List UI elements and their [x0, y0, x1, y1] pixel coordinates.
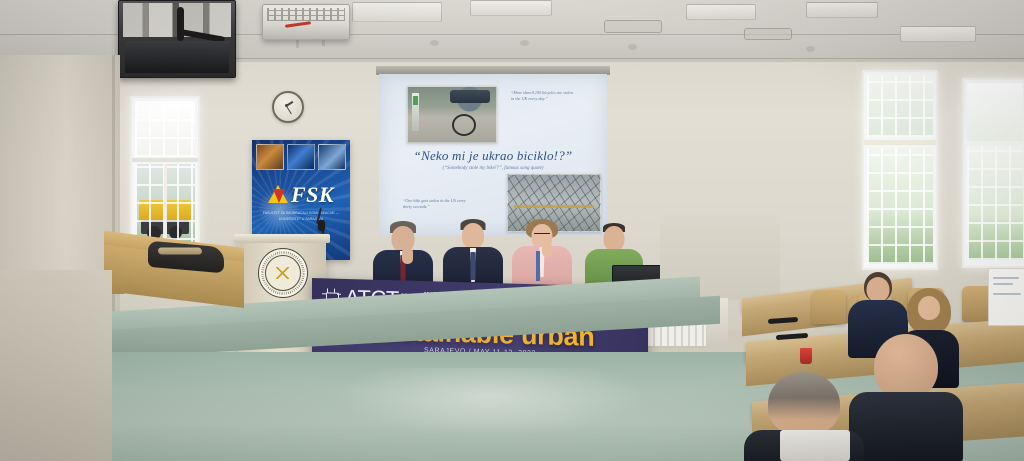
podium-top-surface	[234, 234, 330, 243]
slide-photo-rail	[514, 205, 594, 208]
fsk-photo-1	[256, 144, 284, 170]
audience-3-head	[874, 334, 938, 400]
ceiling-fixture-dot	[628, 44, 637, 50]
audience-2-face	[918, 296, 940, 320]
audience-4-head	[768, 372, 840, 436]
fsk-logo-mark-icon	[268, 185, 288, 205]
ceiling-camera-housing	[118, 0, 236, 78]
wall-poster	[988, 268, 1024, 326]
foreground-partition-wall	[0, 270, 112, 461]
camera-cable	[177, 7, 184, 41]
conference-photo-scene: “More than 8,100 bicycles are stolen in …	[0, 0, 1024, 461]
panelist-2-tie	[471, 252, 476, 280]
window-lower-bars	[967, 146, 1023, 260]
fsk-wordmark: FSK	[291, 184, 334, 206]
ceiling-light-panel	[352, 2, 442, 22]
fsk-logo-row: FSK	[252, 184, 350, 206]
ceiling-vent	[604, 20, 662, 33]
audience-seat	[812, 290, 846, 324]
poster-text-line	[993, 283, 1013, 285]
ceiling-light-panel	[686, 4, 756, 20]
panelist-3-lanyard	[536, 251, 540, 281]
window-transom	[864, 140, 936, 145]
panelist-1-hand	[402, 247, 413, 264]
panelist-2-head	[462, 223, 484, 249]
fsk-subtitle: FAKULTET ZA SAOBRAĆAJ I KOMUNIKACIJE — U…	[262, 210, 340, 223]
paper-on-desk	[780, 430, 850, 461]
wall-clock	[272, 91, 304, 123]
audience-3-body	[849, 392, 963, 461]
seal-emblem-icon	[276, 267, 289, 279]
window-upper-glass	[967, 83, 1023, 141]
audience-3	[848, 334, 964, 461]
red-paper-cup	[800, 348, 812, 364]
clock-center-pin	[285, 104, 288, 107]
ceiling-fixture-dot	[430, 40, 439, 46]
projector-red-cable	[285, 21, 311, 28]
ceiling-fixture-dot	[806, 46, 815, 52]
window-upper-bars	[135, 101, 195, 157]
slide-photo-car	[450, 90, 490, 103]
ceiling-light-panel	[470, 0, 552, 16]
slide-photo-bike-loop	[452, 114, 476, 136]
fsk-photo-strip	[256, 144, 346, 170]
floor-reflection	[330, 368, 650, 438]
audience-1-face	[867, 277, 890, 302]
projection-screen: “More than 8,100 bicycles are stolen in …	[379, 74, 607, 235]
ceiling-vent	[744, 28, 792, 40]
window-transom	[132, 158, 198, 162]
university-seal	[258, 248, 308, 298]
microphone-head	[318, 220, 325, 231]
ceiling-fixture-dot	[520, 40, 529, 46]
slide-photo-post	[412, 93, 419, 131]
tall-window-right	[862, 70, 938, 270]
poster-text-line	[993, 293, 1021, 295]
tall-window-far-right	[962, 78, 1024, 268]
slide-sub-quote: (“Somebody stole my bike!?”, famous song…	[379, 166, 607, 171]
fsk-photo-2	[287, 144, 315, 170]
poster-text-line	[993, 277, 1019, 279]
ceiling-projector	[262, 4, 350, 40]
window-lower-bars	[867, 148, 933, 264]
camera-glass	[125, 41, 229, 73]
window-upper-bars	[867, 75, 933, 137]
ceiling-light-panel	[900, 26, 976, 42]
slide-note-top-right: “More than 8,100 bicycles are stolen in …	[511, 90, 577, 103]
projector-vent-grid	[267, 8, 345, 21]
panelist-3-glasses-icon	[534, 233, 550, 234]
bag-strap	[158, 247, 202, 254]
ceiling-light-panel	[806, 2, 878, 18]
panelist-4-head	[604, 226, 625, 251]
panelist-3-hand	[542, 241, 552, 257]
slide-photo-bike-rack	[407, 86, 497, 143]
fsk-photo-3	[318, 144, 346, 170]
slide-main-quote: “Neko mi je ukrao biciklo!?”	[379, 148, 607, 164]
slide-note-bottom-left: “One bike gets stolen in the US every th…	[403, 198, 469, 211]
